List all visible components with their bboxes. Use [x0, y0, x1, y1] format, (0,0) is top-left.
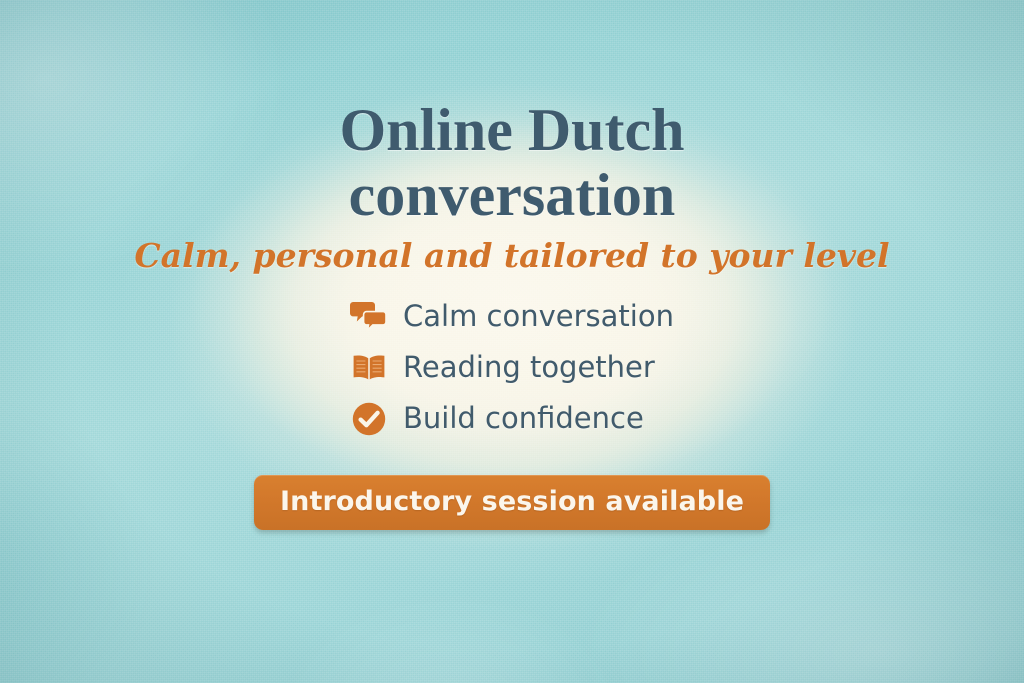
poster-content: Online Dutch conversation Calm, personal… [0, 0, 1024, 683]
list-item: Build confidence [350, 400, 644, 438]
poster-canvas: Online Dutch conversation Calm, personal… [0, 0, 1024, 683]
page-title: Online Dutch conversation [339, 0, 684, 228]
headline-line-2: conversation [339, 163, 684, 228]
introductory-session-button[interactable]: Introductory session available [254, 475, 770, 530]
cta-container: Introductory session available [254, 475, 770, 530]
check-circle-icon [350, 400, 388, 438]
list-item-label: Build confidence [403, 404, 644, 433]
list-item-label: Calm conversation [403, 302, 674, 331]
list-item: Reading together [350, 349, 655, 387]
feature-list: Calm conversation [350, 298, 674, 438]
headline-line-1: Online Dutch [339, 97, 684, 163]
open-book-icon [350, 349, 388, 387]
list-item: Calm conversation [350, 298, 674, 336]
subtitle: Calm, personal and tailored to your leve… [134, 238, 889, 274]
speech-bubbles-icon [350, 298, 388, 336]
list-item-label: Reading together [403, 353, 655, 382]
